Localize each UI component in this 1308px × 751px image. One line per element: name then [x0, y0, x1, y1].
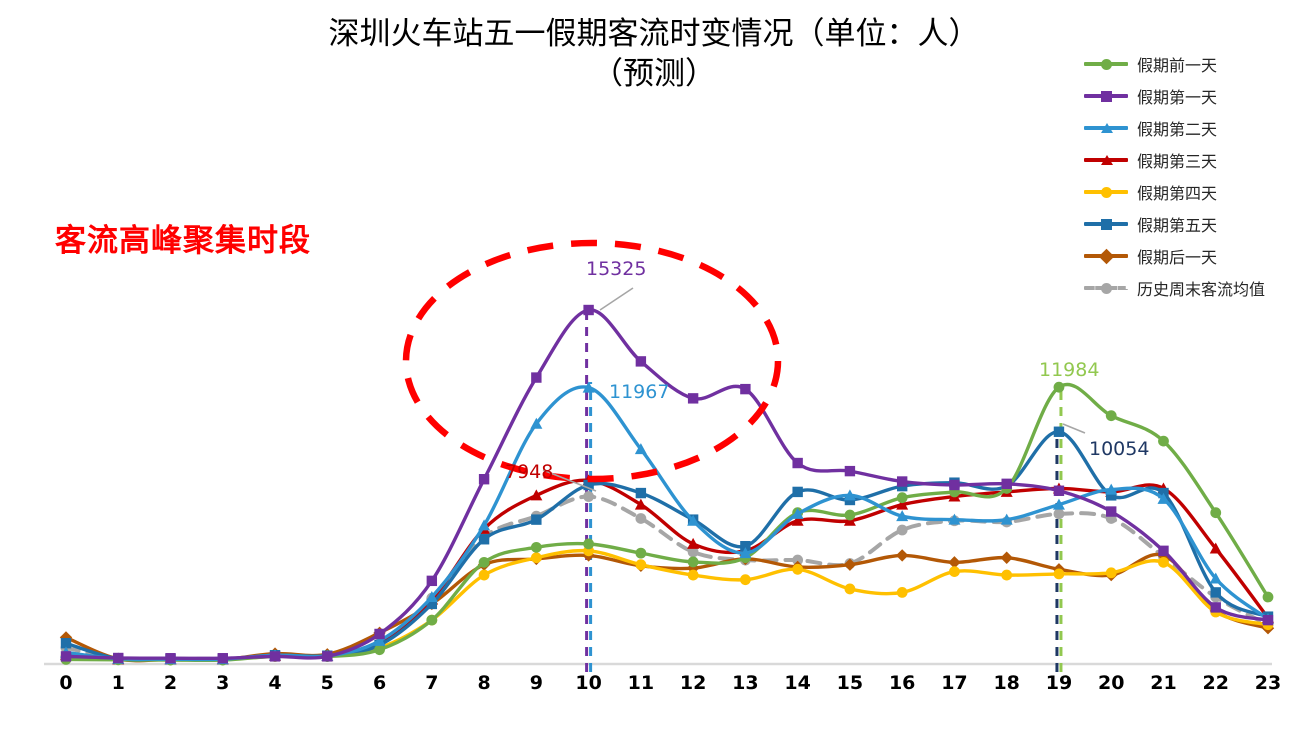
data-point [897, 492, 908, 503]
data-point [635, 548, 646, 559]
chart-legend: 假期前一天假期第一天假期第二天假期第三天假期第四天假期第五天假期后一天历史周末客… [1084, 48, 1300, 304]
data-point [113, 653, 123, 663]
legend-label: 假期第五天 [1137, 212, 1217, 236]
legend-swatch-icon [1084, 280, 1128, 296]
data-label-11984: 11984 [1039, 359, 1099, 381]
x-tick-15: 15 [828, 672, 872, 694]
legend-swatch-icon [1084, 184, 1128, 200]
data-point [792, 458, 802, 468]
data-point [896, 549, 908, 561]
data-point [426, 615, 437, 626]
legend-item-假期第五天[interactable]: 假期第五天 [1084, 208, 1300, 240]
data-point [897, 525, 908, 536]
x-tick-13: 13 [723, 672, 767, 694]
data-point [531, 514, 541, 524]
data-point [740, 384, 750, 394]
x-tick-2: 2 [149, 672, 193, 694]
data-point [740, 574, 751, 585]
data-point [218, 653, 228, 663]
x-tick-11: 11 [619, 672, 663, 694]
data-point [845, 510, 856, 521]
data-point [531, 372, 541, 382]
data-label-11967: 11967 [609, 381, 669, 403]
data-point [1106, 410, 1117, 421]
data-point [1210, 507, 1221, 518]
legend-label: 假期第四天 [1137, 180, 1217, 204]
data-point [1001, 570, 1012, 581]
legend-label: 假期第一天 [1137, 84, 1217, 108]
legend-item-假期后一天[interactable]: 假期后一天 [1084, 240, 1300, 272]
data-point [61, 651, 71, 661]
legend-swatch-icon [1084, 88, 1128, 104]
x-tick-5: 5 [305, 672, 349, 694]
legend-item-历史周末客流均值[interactable]: 历史周末客流均值 [1084, 272, 1300, 304]
data-point [479, 534, 489, 544]
legend-label: 假期第三天 [1137, 148, 1217, 172]
data-point [1054, 508, 1065, 519]
x-tick-22: 22 [1194, 672, 1238, 694]
data-point [479, 474, 489, 484]
data-point [1263, 592, 1274, 603]
legend-swatch-icon [1084, 56, 1128, 72]
x-tick-8: 8 [462, 672, 506, 694]
x-tick-1: 1 [96, 672, 140, 694]
data-point [636, 488, 646, 498]
chart-container: 深圳火车站五一假期客流时变情况（单位：人） （预测） 客流高峰聚集时段 1532… [0, 0, 1308, 751]
x-tick-14: 14 [776, 672, 820, 694]
x-tick-23: 23 [1246, 672, 1290, 694]
data-label-7948: 7948 [505, 461, 553, 483]
data-point [688, 557, 699, 568]
x-tick-18: 18 [985, 672, 1029, 694]
legend-item-假期第三天[interactable]: 假期第三天 [1084, 144, 1300, 176]
x-tick-6: 6 [358, 672, 402, 694]
data-point [792, 487, 802, 497]
x-tick-16: 16 [880, 672, 924, 694]
data-point [688, 393, 698, 403]
data-point [479, 570, 490, 581]
x-tick-17: 17 [932, 672, 976, 694]
data-point [635, 559, 646, 570]
data-label-10054: 10054 [1089, 438, 1149, 460]
data-point [1263, 615, 1273, 625]
data-point [949, 566, 960, 577]
series-假期第二天 [60, 382, 1274, 665]
data-point [583, 491, 594, 502]
data-point [1106, 567, 1117, 578]
x-tick-4: 4 [253, 672, 297, 694]
data-point [845, 466, 855, 476]
data-point [1054, 382, 1065, 393]
x-tick-20: 20 [1089, 672, 1133, 694]
data-point [531, 552, 542, 563]
callout-leader [1063, 424, 1085, 433]
data-point [636, 356, 646, 366]
series-假期第四天 [61, 545, 1274, 664]
data-point [1054, 427, 1064, 437]
data-point [583, 538, 594, 549]
data-point [374, 629, 384, 639]
data-label-15325: 15325 [586, 258, 646, 280]
legend-swatch-icon [1084, 248, 1128, 264]
data-point [845, 584, 856, 595]
legend-swatch-icon [1084, 152, 1128, 168]
callout-leader [600, 288, 633, 310]
data-point [165, 653, 175, 663]
legend-swatch-icon [1084, 120, 1128, 136]
x-tick-0: 0 [44, 672, 88, 694]
data-point [688, 570, 699, 581]
legend-label: 假期第二天 [1137, 116, 1217, 140]
x-tick-21: 21 [1141, 672, 1185, 694]
data-point [949, 480, 959, 490]
x-tick-19: 19 [1037, 672, 1081, 694]
legend-label: 假期前一天 [1137, 52, 1217, 76]
data-point [270, 651, 280, 661]
legend-item-假期第一天[interactable]: 假期第一天 [1084, 80, 1300, 112]
legend-item-假期第四天[interactable]: 假期第四天 [1084, 176, 1300, 208]
x-tick-10: 10 [567, 672, 611, 694]
series-历史周末客流均值 [61, 491, 1274, 664]
data-point [1001, 479, 1011, 489]
x-tick-7: 7 [410, 672, 454, 694]
data-point [479, 557, 490, 568]
x-tick-9: 9 [514, 672, 558, 694]
series-假期第五天 [61, 427, 1273, 665]
data-point [897, 587, 908, 598]
legend-label: 假期后一天 [1137, 244, 1217, 268]
data-point [1054, 486, 1064, 496]
data-point [1158, 546, 1168, 556]
data-point [322, 651, 332, 661]
legend-item-假期前一天[interactable]: 假期前一天 [1084, 48, 1300, 80]
data-point [1211, 602, 1221, 612]
legend-label: 历史周末客流均值 [1137, 276, 1265, 300]
data-point [1000, 552, 1012, 564]
x-tick-12: 12 [671, 672, 715, 694]
data-point [531, 542, 542, 553]
legend-item-假期第二天[interactable]: 假期第二天 [1084, 112, 1300, 144]
data-point [583, 305, 593, 315]
data-point [635, 513, 646, 524]
series-假期后一天 [60, 549, 1274, 665]
legend-swatch-icon [1084, 216, 1128, 232]
data-point [1158, 436, 1169, 447]
data-point [427, 576, 437, 586]
data-point [792, 564, 803, 575]
data-point [1106, 506, 1116, 516]
data-point [897, 476, 907, 486]
data-point [1054, 569, 1065, 580]
data-point [1158, 557, 1169, 568]
data-point [1211, 587, 1221, 597]
x-tick-3: 3 [201, 672, 245, 694]
